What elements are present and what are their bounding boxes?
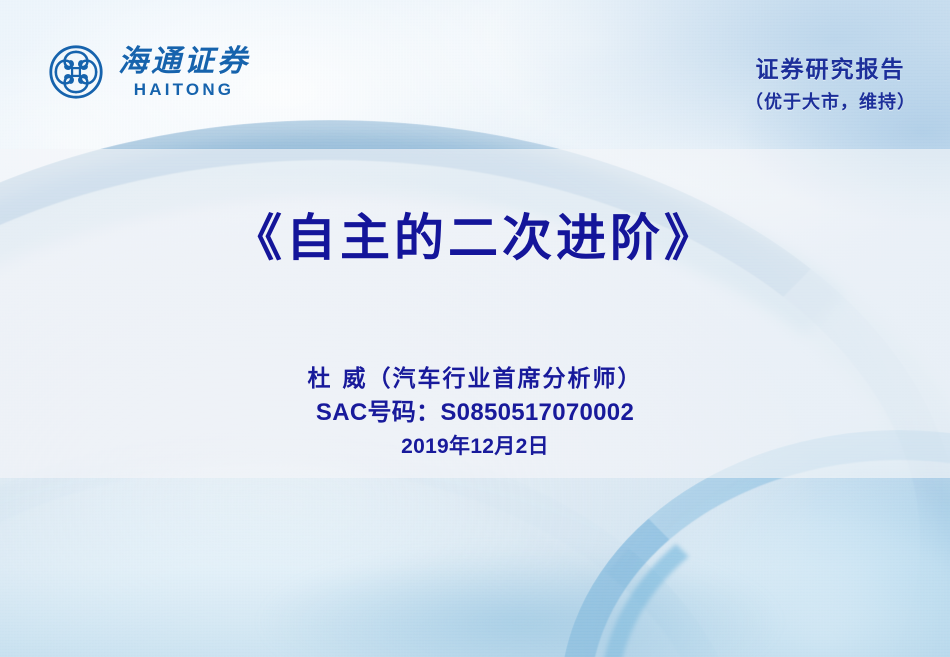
brand-wordmark: 海通证券 HAITONG bbox=[118, 47, 250, 98]
publication-date: 2019年12月2日 bbox=[0, 431, 950, 463]
brand-name-en: HAITONG bbox=[134, 81, 234, 98]
report-type-label: 证券研究报告 bbox=[745, 56, 916, 85]
page-title: 《自主的二次进阶》 bbox=[0, 198, 950, 270]
sac-license-number: SAC号码：S0850517070002 bbox=[0, 395, 950, 431]
presentation-slide: 海通证券 HAITONG 证券研究报告 （优于大市，维持） 《自主的二次进阶》 … bbox=[0, 0, 950, 657]
brand-logo: 海通证券 HAITONG bbox=[48, 44, 250, 100]
brand-name-cn: 海通证券 bbox=[118, 47, 250, 77]
haitong-circular-knot-emblem-icon bbox=[48, 44, 104, 100]
analyst-name-and-role: 杜 威（汽车行业首席分析师） bbox=[0, 362, 950, 395]
author-block: 杜 威（汽车行业首席分析师） SAC号码：S0850517070002 2019… bbox=[0, 362, 950, 463]
investment-rating-label: （优于大市，维持） bbox=[745, 91, 916, 114]
report-type-block: 证券研究报告 （优于大市，维持） bbox=[745, 56, 916, 114]
